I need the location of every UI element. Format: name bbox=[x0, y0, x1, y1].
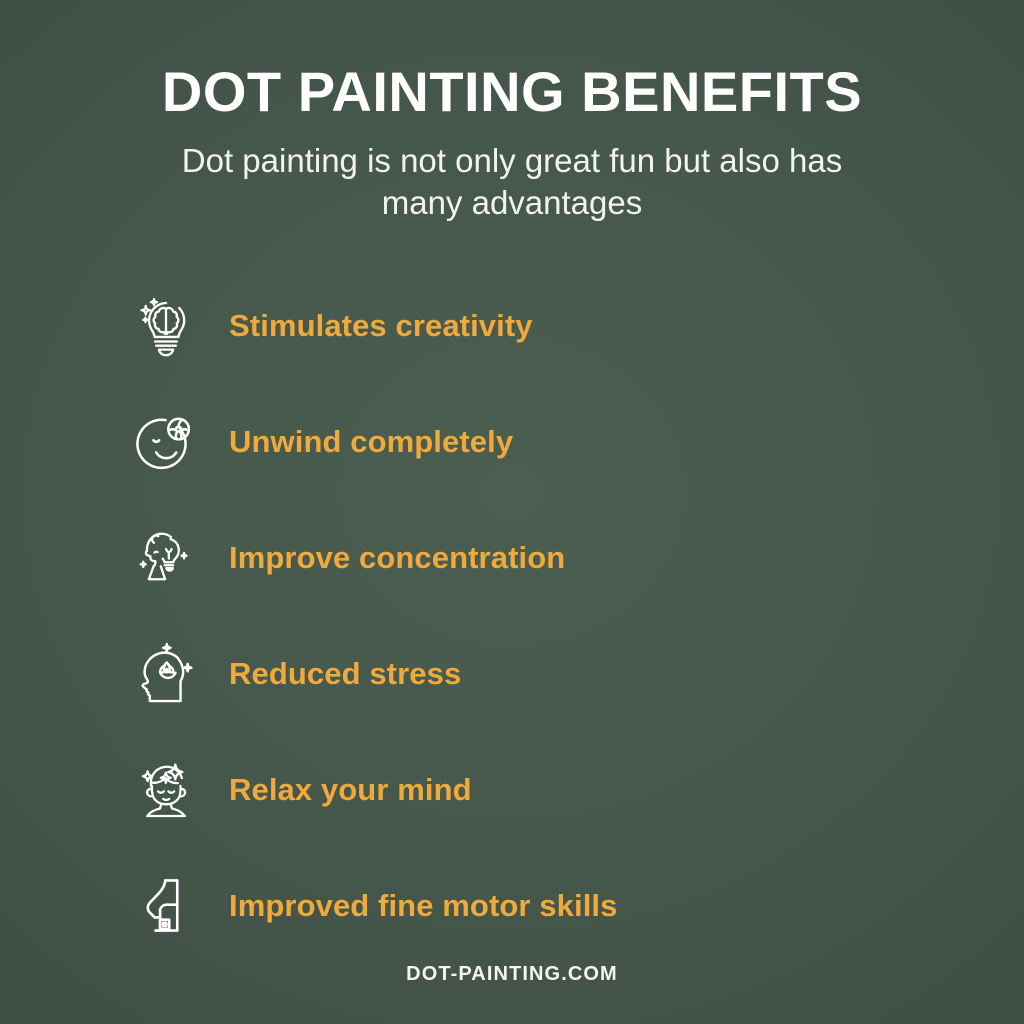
head-lotus-sparkle-icon bbox=[128, 633, 204, 715]
page-title: DOT PAINTING BENEFITS bbox=[0, 62, 1024, 122]
brain-lightbulb-icon bbox=[128, 285, 204, 367]
header: DOT PAINTING BENEFITS Dot painting is no… bbox=[0, 0, 1024, 224]
calm-face-stars-icon bbox=[128, 749, 204, 831]
website-label: DOT-PAINTING.COM bbox=[406, 963, 618, 985]
head-profile-lightbulb-icon bbox=[128, 517, 204, 599]
list-item: Stimulates creativity bbox=[128, 268, 1024, 384]
hand-holding-tool-icon bbox=[128, 865, 204, 947]
list-item-label: Relax your mind bbox=[229, 772, 472, 808]
list-item-label: Reduced stress bbox=[229, 656, 461, 692]
infographic-poster: DOT PAINTING BENEFITS Dot painting is no… bbox=[0, 0, 1024, 1024]
list-item: Reduced stress bbox=[128, 616, 1024, 732]
list-item: Unwind completely bbox=[128, 384, 1024, 500]
list-item-label: Improve concentration bbox=[229, 540, 565, 576]
list-item-label: Stimulates creativity bbox=[229, 308, 533, 344]
smiling-face-flower-icon bbox=[128, 401, 204, 483]
page-subtitle: Dot painting is not only great fun but a… bbox=[147, 140, 877, 223]
list-item-label: Improved fine motor skills bbox=[229, 888, 617, 924]
list-item: Relax your mind bbox=[128, 732, 1024, 848]
benefits-list: Stimulates creativity Unwind complet bbox=[0, 268, 1024, 964]
list-item: Improved fine motor skills bbox=[128, 848, 1024, 964]
footer: DOT-PAINTING.COM bbox=[0, 963, 1024, 986]
list-item-label: Unwind completely bbox=[229, 424, 513, 460]
list-item: Improve concentration bbox=[128, 500, 1024, 616]
